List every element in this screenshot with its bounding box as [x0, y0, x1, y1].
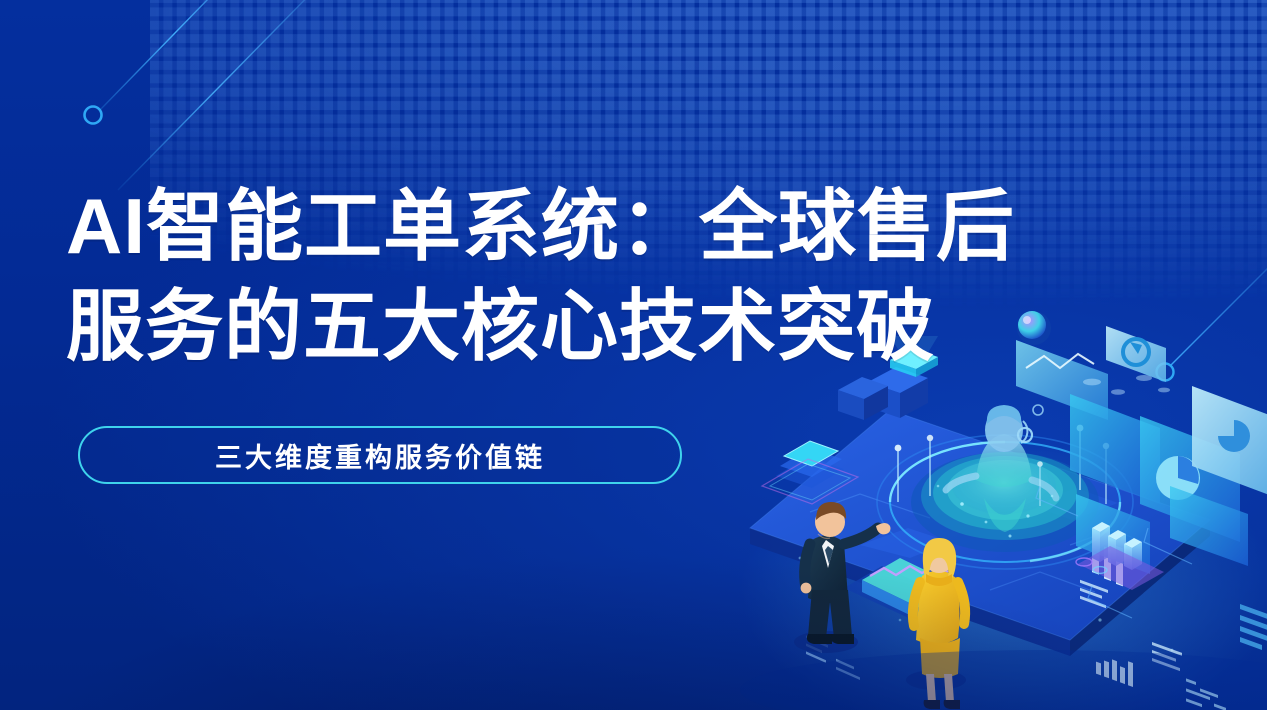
- vignette-overlay: [0, 0, 1267, 710]
- poster-canvas: AI智能工单系统：全球售后 服务的五大核心技术突破 三大维度重构服务价值链: [0, 0, 1267, 710]
